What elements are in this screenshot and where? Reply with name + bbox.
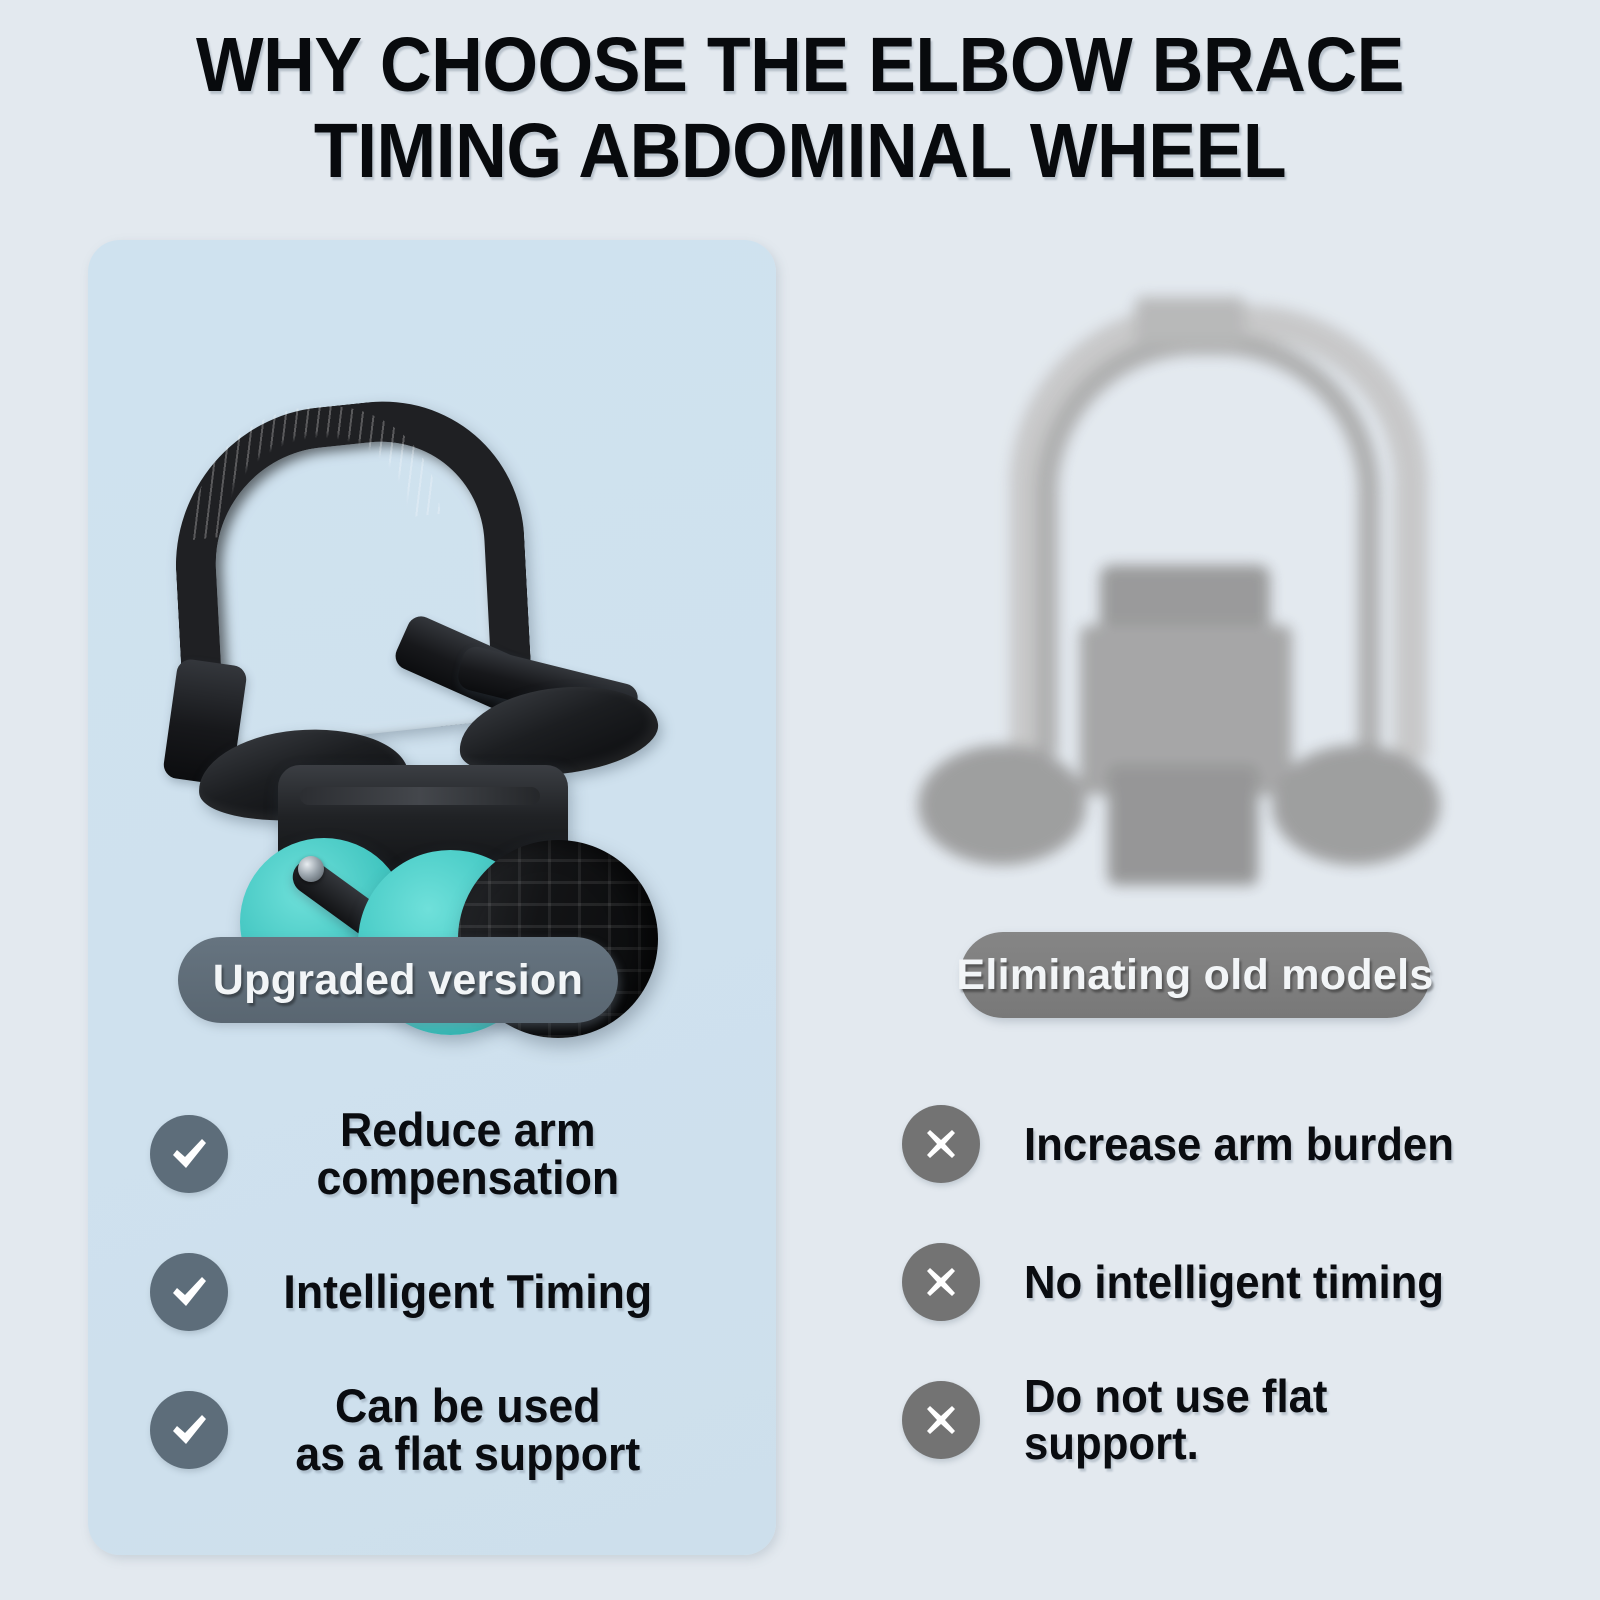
check-icon <box>150 1391 228 1469</box>
new-product-image <box>88 240 776 920</box>
list-item-label-line1: Reduce arm <box>340 1103 596 1156</box>
check-icon <box>150 1115 228 1193</box>
old-left-wheel-shape <box>918 745 1086 865</box>
list-item-label-line1: Can be used <box>335 1379 600 1432</box>
old-product-card: Eliminating old models Increase arm burd… <box>830 240 1530 1555</box>
old-product-image <box>830 240 1530 920</box>
list-item-label: Intelligent Timing <box>242 1268 763 1316</box>
page-title-line-1: WHY CHOOSE THE ELBOW BRACE <box>56 22 1544 108</box>
old-center-lower-shape <box>1108 765 1258 885</box>
list-item: No intelligent timing <box>830 1213 1530 1351</box>
list-item: Can be used as a flat support <box>88 1361 776 1499</box>
list-item: Do not use flat support. <box>830 1351 1530 1489</box>
new-abdominal-wheel-illustration <box>128 310 738 900</box>
list-item-label-line1: Increase arm burden <box>1024 1118 1454 1170</box>
eliminating-old-models-badge: Eliminating old models <box>960 932 1430 1018</box>
list-item-label: Can be used as a flat support <box>242 1382 763 1478</box>
list-item-label-line2: as a flat support <box>242 1430 694 1478</box>
list-item: Increase arm burden <box>830 1075 1530 1213</box>
old-top-cap-shape <box>1135 297 1245 343</box>
list-item-label: Do not use flat support. <box>1024 1373 1505 1467</box>
upgraded-product-card: Upgraded version Reduce arm compensation… <box>88 240 776 1555</box>
cross-icon <box>902 1105 980 1183</box>
list-item-label-line2: compensation <box>242 1154 694 1202</box>
page-title-line-2: TIMING ABDOMINAL WHEEL <box>56 108 1544 194</box>
list-item: Reduce arm compensation <box>88 1085 776 1223</box>
list-item-label: No intelligent timing <box>1024 1259 1444 1306</box>
old-model-drawback-list: Increase arm burden No intelligent timin… <box>830 1075 1530 1489</box>
axle-bolt-rear-shape <box>298 856 324 882</box>
upgraded-version-badge-label: Upgraded version <box>213 956 583 1005</box>
list-item-label: Reduce arm compensation <box>242 1106 763 1202</box>
cross-icon <box>902 1381 980 1459</box>
old-right-wheel-shape <box>1272 745 1440 865</box>
old-abdominal-wheel-illustration <box>940 295 1430 885</box>
check-icon <box>150 1253 228 1331</box>
upgraded-version-badge: Upgraded version <box>178 937 618 1023</box>
page-title: WHY CHOOSE THE ELBOW BRACE TIMING ABDOMI… <box>0 22 1600 194</box>
list-item-label-line1: Intelligent Timing <box>283 1265 652 1318</box>
list-item-label: Increase arm burden <box>1024 1121 1454 1168</box>
eliminating-old-models-badge-label: Eliminating old models <box>956 951 1433 1000</box>
list-item-label-line1: No intelligent timing <box>1024 1256 1444 1308</box>
upgraded-feature-list: Reduce arm compensation Intelligent Timi… <box>88 1085 776 1499</box>
list-item-label-line1: Do not use flat support. <box>1024 1370 1327 1469</box>
cross-icon <box>902 1243 980 1321</box>
list-item: Intelligent Timing <box>88 1223 776 1361</box>
